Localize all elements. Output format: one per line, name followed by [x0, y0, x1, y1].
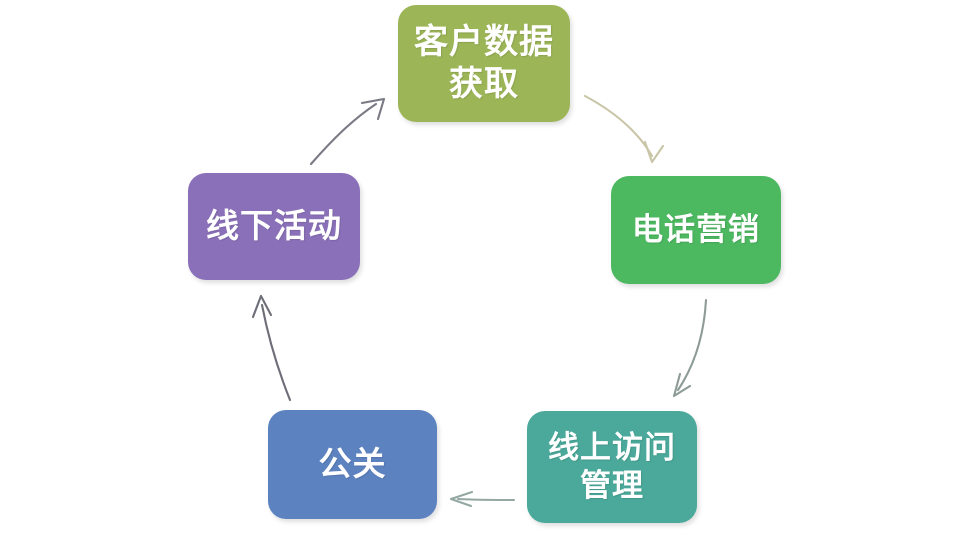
- node-customer-data-acquisition[interactable]: 客户数据获取: [398, 5, 570, 122]
- node-label-public-relations: 公关: [313, 444, 393, 484]
- node-label-offline-events: 线下活动: [200, 206, 348, 246]
- diagram-canvas: 客户数据获取 电话营销 线上访问管理 公关 线下活动: [0, 0, 960, 542]
- arrow-online-to-pr: [451, 492, 514, 506]
- arrow-right-to-online: [674, 300, 706, 396]
- node-public-relations[interactable]: 公关: [268, 410, 437, 519]
- node-label-telemarketing: 电话营销: [626, 211, 766, 249]
- node-label-customer-data-acquisition: 客户数据获取: [408, 22, 560, 105]
- arrow-offline-to-top: [311, 99, 384, 164]
- node-online-visit-management[interactable]: 线上访问管理: [527, 411, 697, 523]
- arrow-pr-to-offline: [253, 296, 290, 400]
- node-offline-events[interactable]: 线下活动: [188, 173, 360, 280]
- node-telemarketing[interactable]: 电话营销: [611, 176, 781, 284]
- node-label-online-visit-management: 线上访问管理: [542, 429, 682, 505]
- arrow-top-to-right: [585, 96, 663, 162]
